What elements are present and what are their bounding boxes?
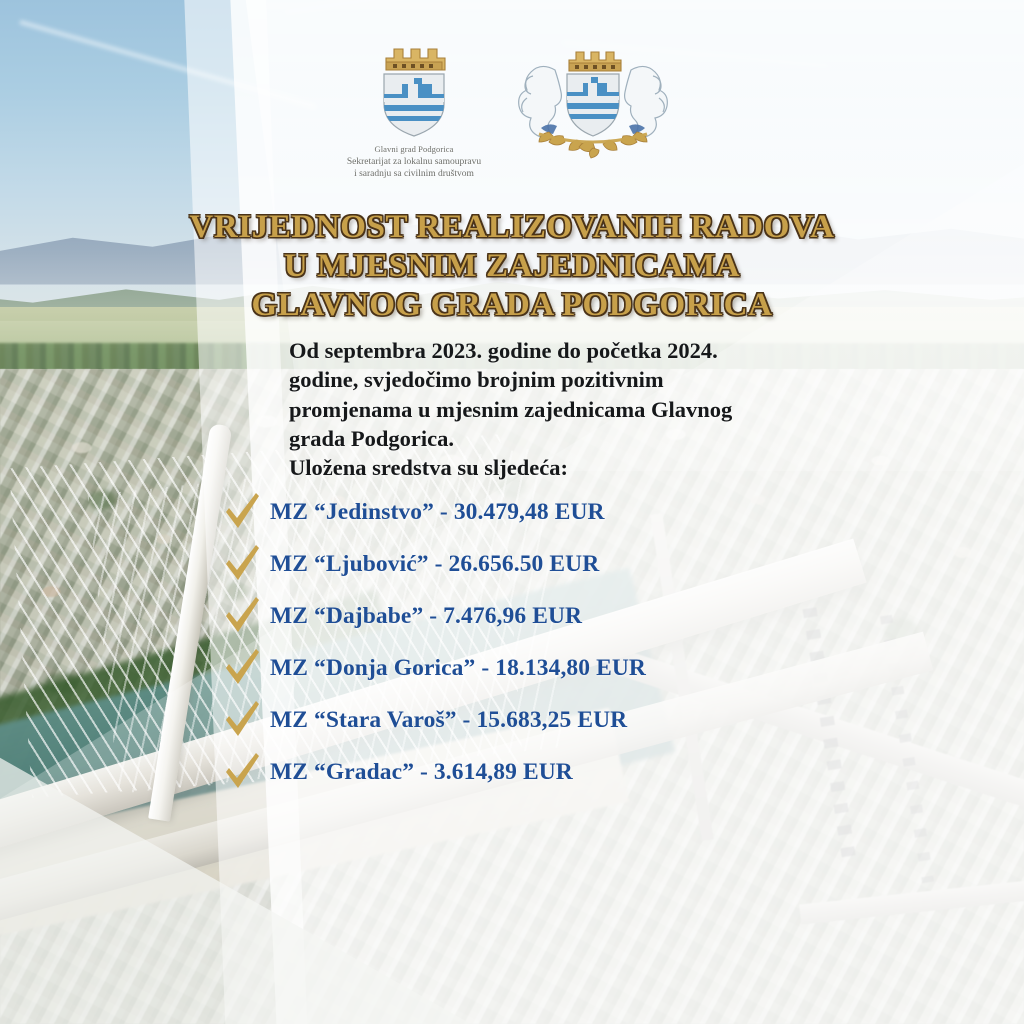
list-item-label: MZ “Jedinstvo” - 30.479,48 EUR: [270, 499, 605, 526]
list-item: MZ “Jedinstvo” - 30.479,48 EUR: [214, 486, 854, 538]
emblem-row: Glavni grad Podgorica Sekretarijat za lo…: [0, 36, 1024, 180]
intro-line-1: Od septembra 2023. godine do početka 202…: [289, 336, 809, 365]
list-item: MZ “Gradac” - 3.614,89 EUR: [214, 746, 854, 798]
check-mark-icon: [214, 700, 270, 740]
poster-title: VRIJEDNOST REALIZOVANIH RADOVA U MJESNIM…: [0, 208, 1024, 325]
intro-line-3: promjenama u mjesnim zajednicama Glavnog: [289, 395, 809, 424]
list-item: MZ “Dajbabe” - 7.476,96 EUR: [214, 590, 854, 642]
intro-line-5: Uložena sredstva su sljedeća:: [289, 453, 809, 482]
list-item-label: MZ “Stara Varoš” - 15.683,25 EUR: [270, 707, 627, 734]
podgorica-coat-of-arms-small-icon: [364, 36, 464, 140]
check-mark-icon: [214, 544, 270, 584]
org-line-3: i saradnju sa civilnim društvom: [347, 169, 481, 181]
title-line-2: U MJESNIM ZAJEDNICAMA: [0, 247, 1024, 286]
small-crest-block: Glavni grad Podgorica Sekretarijat za lo…: [347, 36, 481, 180]
mz-amount-list: MZ “Jedinstvo” - 30.479,48 EUR MZ “Ljubo…: [214, 486, 854, 798]
list-item-label: MZ “Ljubović” - 26.656.50 EUR: [270, 551, 599, 578]
poster-content: Glavni grad Podgorica Sekretarijat za lo…: [0, 0, 1024, 1024]
list-item: MZ “Ljubović” - 26.656.50 EUR: [214, 538, 854, 590]
list-item: MZ “Donja Gorica” - 18.134,80 EUR: [214, 642, 854, 694]
list-item: MZ “Stara Varoš” - 15.683,25 EUR: [214, 694, 854, 746]
check-mark-icon: [214, 492, 270, 532]
large-crest-block: [509, 36, 677, 164]
check-mark-icon: [214, 648, 270, 688]
title-line-3: GLAVNOG GRADA PODGORICA: [0, 286, 1024, 325]
org-line-1: Glavni grad Podgorica: [347, 144, 481, 155]
check-mark-icon: [214, 752, 270, 792]
intro-paragraph: Od septembra 2023. godine do početka 202…: [289, 336, 809, 482]
list-item-label: MZ “Donja Gorica” - 18.134,80 EUR: [270, 655, 646, 682]
intro-line-2: godine, svjedočimo brojnim pozitivnim: [289, 365, 809, 394]
check-mark-icon: [214, 596, 270, 636]
organization-text: Glavni grad Podgorica Sekretarijat za lo…: [347, 144, 481, 180]
podgorica-coat-of-arms-with-supporters-icon: [509, 36, 677, 164]
infographic-poster: Glavni grad Podgorica Sekretarijat za lo…: [0, 0, 1024, 1024]
list-item-label: MZ “Gradac” - 3.614,89 EUR: [270, 759, 573, 786]
org-line-2: Sekretarijat za lokalnu samoupravu: [347, 157, 481, 169]
title-line-1: VRIJEDNOST REALIZOVANIH RADOVA: [0, 208, 1024, 247]
list-item-label: MZ “Dajbabe” - 7.476,96 EUR: [270, 603, 582, 630]
intro-line-4: grada Podgorica.: [289, 424, 809, 453]
